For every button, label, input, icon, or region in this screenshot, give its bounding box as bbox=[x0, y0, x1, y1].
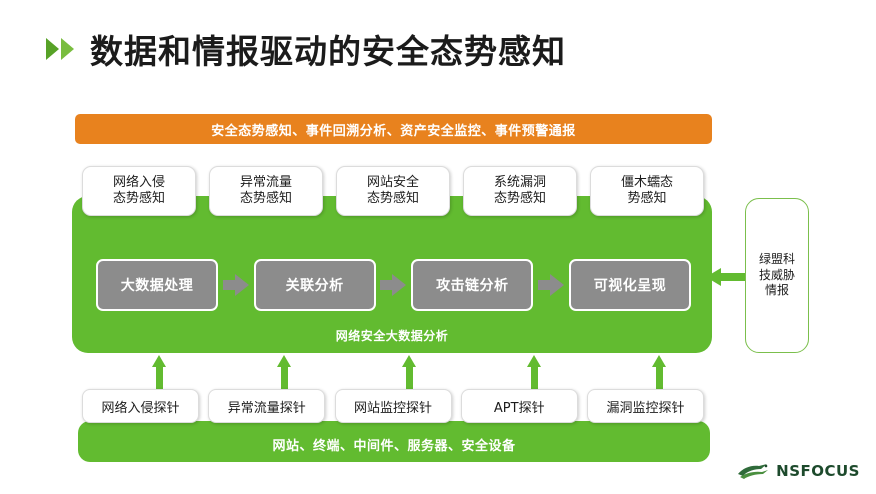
probe-card[interactable]: 异常流量探针 bbox=[208, 389, 325, 423]
probe-card[interactable]: 网站监控探针 bbox=[335, 389, 452, 423]
awareness-card[interactable]: 系统漏洞 态势感知 bbox=[463, 166, 577, 216]
triangle-arrow-1 bbox=[46, 38, 59, 60]
awareness-card-line1: 系统漏洞 bbox=[494, 175, 546, 191]
slide-title-row: 数据和情报驱动的安全态势感知 bbox=[46, 24, 566, 74]
awareness-card-line2: 态势感知 bbox=[367, 191, 419, 207]
pipeline-step-label: 可视化呈现 bbox=[594, 275, 667, 295]
threat-intelligence-box[interactable]: 绿盟科 技威胁 情报 bbox=[745, 198, 809, 353]
probe-card[interactable]: 漏洞监控探针 bbox=[587, 389, 704, 423]
probe-card-label: 网络入侵探针 bbox=[101, 397, 179, 416]
pipeline-step[interactable]: 大数据处理 bbox=[96, 259, 218, 311]
awareness-card-line2: 态势感知 bbox=[113, 191, 165, 207]
pipeline-step[interactable]: 攻击链分析 bbox=[411, 259, 533, 311]
pipeline-step[interactable]: 可视化呈现 bbox=[569, 259, 691, 311]
awareness-card[interactable]: 异常流量 态势感知 bbox=[209, 166, 323, 216]
awareness-card-line1: 网络入侵 bbox=[113, 175, 165, 191]
threat-intel-line1: 绿盟科 bbox=[759, 252, 795, 268]
up-arrow-icon bbox=[277, 355, 291, 393]
up-arrow-icon bbox=[652, 355, 666, 393]
nsfocus-logo-text: NSFOCUS bbox=[776, 462, 860, 480]
awareness-card-line2: 态势感知 bbox=[240, 191, 292, 207]
awareness-card[interactable]: 网络入侵 态势感知 bbox=[82, 166, 196, 216]
awareness-card-line2: 势感知 bbox=[627, 191, 666, 207]
right-arrow-icon bbox=[223, 274, 249, 296]
probe-card-label: 异常流量探针 bbox=[228, 397, 306, 416]
infrastructure-bar: 网站、终端、中间件、服务器、安全设备 bbox=[78, 421, 710, 462]
awareness-card-line2: 态势感知 bbox=[494, 191, 546, 207]
left-arrow-icon bbox=[706, 268, 746, 286]
awareness-card-row: 网络入侵 态势感知 异常流量 态势感知 网站安全 态势感知 系统漏洞 态势感知 … bbox=[82, 166, 704, 216]
threat-intel-line3: 情报 bbox=[765, 283, 789, 299]
analysis-pipeline: 大数据处理 关联分析 攻击链分析 可视化呈现 bbox=[96, 259, 691, 311]
pipeline-step[interactable]: 关联分析 bbox=[254, 259, 376, 311]
right-arrow-icon bbox=[538, 274, 564, 296]
nsfocus-logo: NSFOCUS bbox=[737, 462, 860, 480]
capability-banner-text: 安全态势感知、事件回溯分析、资产安全监控、事件预警通报 bbox=[211, 120, 576, 139]
awareness-card[interactable]: 僵木蠕态 势感知 bbox=[590, 166, 704, 216]
pipeline-step-label: 大数据处理 bbox=[121, 275, 194, 295]
awareness-card-line1: 僵木蠕态 bbox=[621, 175, 673, 191]
capability-banner: 安全态势感知、事件回溯分析、资产安全监控、事件预警通报 bbox=[75, 114, 712, 144]
up-arrow-icon bbox=[402, 355, 416, 393]
page-title: 数据和情报驱动的安全态势感知 bbox=[90, 25, 566, 73]
probe-card-row: 网络入侵探针 异常流量探针 网站监控探针 APT探针 漏洞监控探针 bbox=[82, 389, 704, 423]
double-arrow-icon bbox=[46, 38, 74, 60]
pipeline-step-label: 关联分析 bbox=[286, 275, 344, 295]
awareness-card-line1: 网站安全 bbox=[367, 175, 419, 191]
probe-card-label: 网站监控探针 bbox=[354, 397, 432, 416]
pipeline-step-label: 攻击链分析 bbox=[436, 275, 509, 295]
awareness-card[interactable]: 网站安全 态势感知 bbox=[336, 166, 450, 216]
awareness-card-line1: 异常流量 bbox=[240, 175, 292, 191]
probe-card[interactable]: APT探针 bbox=[461, 389, 578, 423]
right-arrow-icon bbox=[380, 274, 406, 296]
infrastructure-bar-text: 网站、终端、中间件、服务器、安全设备 bbox=[272, 435, 515, 454]
probe-card[interactable]: 网络入侵探针 bbox=[82, 389, 199, 423]
nsfocus-bird-icon bbox=[737, 462, 771, 480]
up-arrow-icon bbox=[152, 355, 166, 393]
probe-card-label: APT探针 bbox=[494, 397, 545, 416]
up-arrow-icon bbox=[527, 355, 541, 393]
triangle-arrow-2 bbox=[61, 38, 74, 60]
threat-intel-line2: 技威胁 bbox=[759, 268, 795, 284]
probe-card-label: 漏洞监控探针 bbox=[606, 397, 684, 416]
panel-label: 网络安全大数据分析 bbox=[72, 327, 712, 344]
